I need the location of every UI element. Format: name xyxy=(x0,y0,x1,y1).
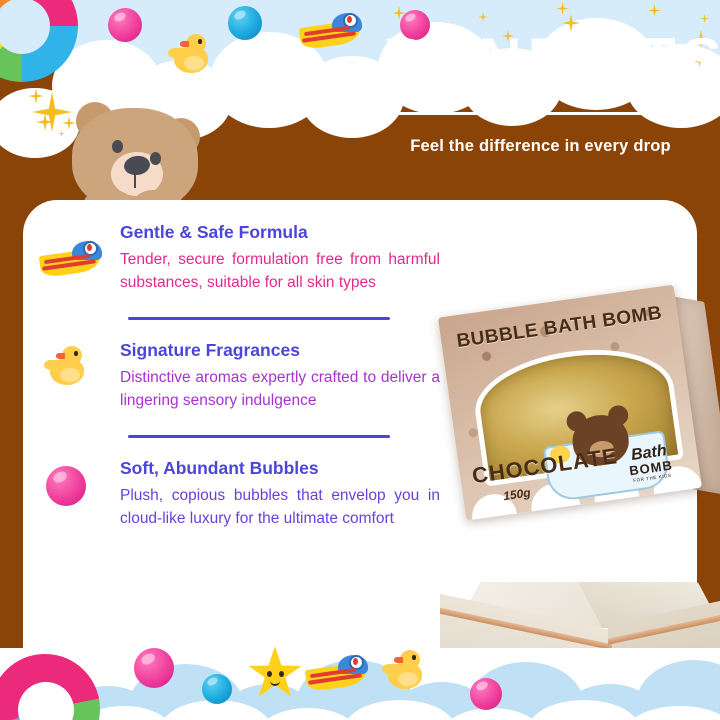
title-divider xyxy=(386,112,696,115)
page-title: BENEFITS xyxy=(383,30,698,90)
benefit-divider xyxy=(128,317,390,320)
smiling-star-icon xyxy=(248,646,302,700)
brand-logo: Bath BOMB FOR THE KIDS xyxy=(626,442,674,483)
rubber-duck-icon xyxy=(40,344,102,400)
benefit-item[interactable]: Soft, Abundant Bubbles Plush, copious bu… xyxy=(40,458,440,531)
benefit-title: Soft, Abundant Bubbles xyxy=(120,458,440,478)
pink-bath-bomb-icon xyxy=(134,648,174,688)
sparkle-icon xyxy=(478,12,488,22)
bear-eye-right xyxy=(150,152,161,165)
pink-bath-bomb-icon xyxy=(108,8,142,42)
sparkle-icon xyxy=(36,113,54,131)
benefit-item[interactable]: Gentle & Safe Formula Tender, secure for… xyxy=(40,222,440,295)
benefit-body: Tender, secure formulation free from har… xyxy=(120,249,440,295)
toy-boat-icon xyxy=(300,6,364,46)
benefit-divider xyxy=(128,435,390,438)
benefits-poster: BENEFITS Feel the difference in every dr… xyxy=(0,0,720,720)
sparkle-icon xyxy=(648,4,661,17)
benefits-list: Gentle & Safe Formula Tender, secure for… xyxy=(40,222,440,531)
poster-header: BENEFITS Feel the difference in every dr… xyxy=(383,30,698,156)
benefit-body: Plush, copious bubbles that envelop you … xyxy=(120,485,440,531)
blue-bath-bomb-icon xyxy=(202,674,232,704)
pink-bath-bomb-icon xyxy=(470,678,502,710)
benefit-title: Signature Fragrances xyxy=(120,340,440,360)
rubber-duck-icon xyxy=(168,34,214,76)
sparkle-icon xyxy=(58,130,65,137)
benefit-title: Gentle & Safe Formula xyxy=(120,222,440,242)
bear-eye-left xyxy=(112,140,123,153)
toy-boat-icon xyxy=(306,648,370,688)
bear-mouth xyxy=(134,174,136,188)
bath-bomb-icon xyxy=(40,462,102,518)
benefit-body: Distinctive aromas expertly crafted to d… xyxy=(120,367,440,413)
package-front-panel: BUBBLE BATH BOMB CHOCOLATE 150g Bath BOM… xyxy=(438,285,702,521)
page-subtitle: Feel the difference in every drop xyxy=(383,137,698,156)
blue-bath-bomb-icon xyxy=(228,6,262,40)
benefit-item[interactable]: Signature Fragrances Distinctive aromas … xyxy=(40,340,440,413)
rubber-duck-icon xyxy=(382,650,428,692)
product-package[interactable]: BUBBLE BATH BOMB CHOCOLATE 150g Bath BOM… xyxy=(438,285,704,536)
sparkle-icon xyxy=(392,6,406,20)
sparkle-icon xyxy=(700,14,709,23)
toy-boat-icon xyxy=(40,226,102,282)
